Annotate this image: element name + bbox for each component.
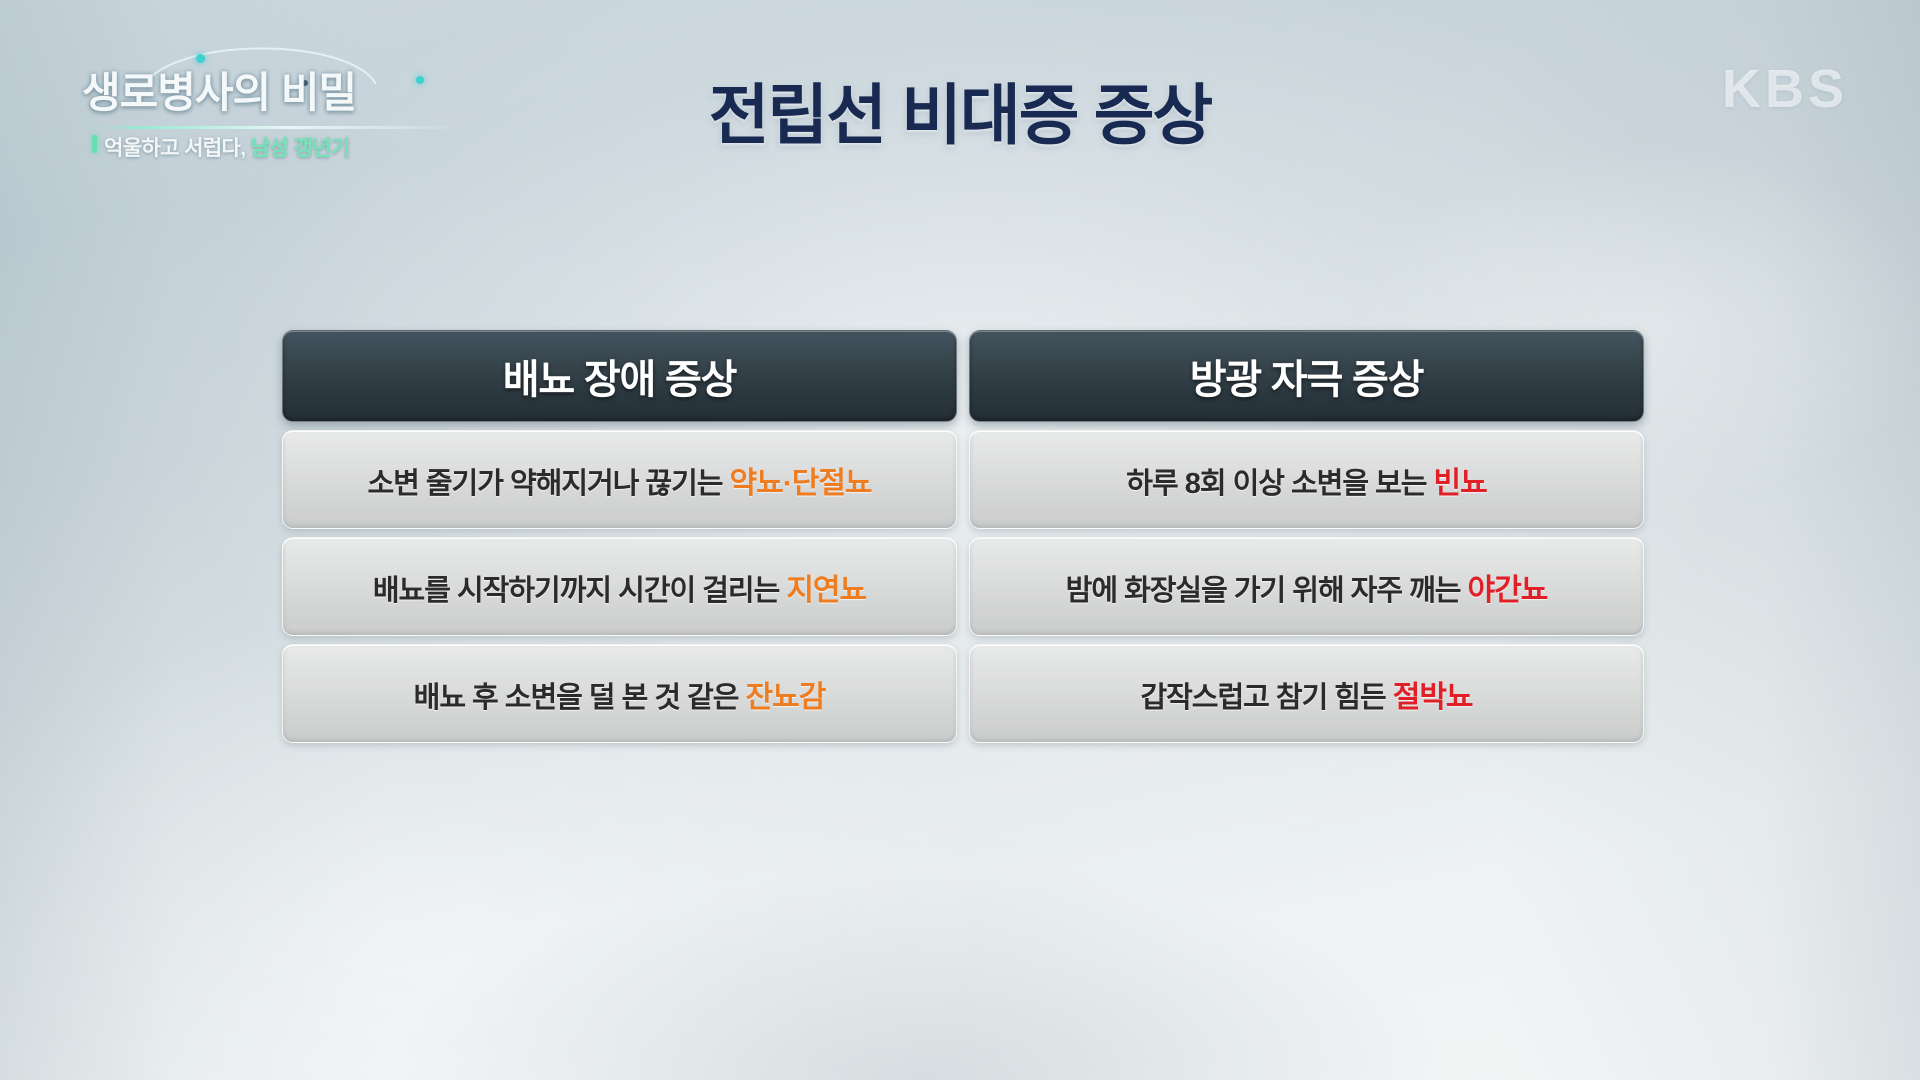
symptom-text: 하루 8회 이상 소변을 보는 빈뇨 — [1126, 458, 1486, 502]
column-header-label: 배뇨 장애 증상 — [503, 347, 736, 405]
symptom-text: 갑작스럽고 참기 힘든 절박뇨 — [1140, 672, 1472, 716]
symptom-keyword: 잔뇨감 — [746, 681, 826, 714]
logo-underline-divider — [98, 126, 448, 129]
symptom-lead: 밤에 화장실을 가기 위해 자주 깨는 — [1066, 575, 1468, 607]
episode-subtitle-accent: 남성 갱년기 — [251, 137, 350, 160]
column-header-voiding: 배뇨 장애 증상 — [282, 330, 957, 422]
table-row: 갑작스럽고 참기 힘든 절박뇨 — [969, 644, 1644, 743]
kbs-network-logo: KBS — [1722, 58, 1848, 120]
symptom-lead: 배뇨 후 소변을 덜 본 것 같은 — [414, 682, 746, 714]
table-row: 소변 줄기가 약해지거나 끊기는 약뇨·단절뇨 — [282, 430, 957, 529]
logo-bullet-icon — [92, 135, 97, 153]
symptom-lead: 갑작스럽고 참기 힘든 — [1140, 682, 1392, 714]
table-row: 배뇨 후 소변을 덜 본 것 같은 잔뇨감 — [282, 644, 957, 743]
program-title: 생로병사의 비밀 — [82, 72, 464, 114]
symptom-text: 배뇨를 시작하기까지 시간이 걸리는 지연뇨 — [373, 565, 866, 609]
symptom-text: 밤에 화장실을 가기 위해 자주 깨는 야간뇨 — [1066, 565, 1548, 609]
symptom-lead: 배뇨를 시작하기까지 시간이 걸리는 — [373, 575, 786, 607]
symptom-keyword: 지연뇨 — [786, 574, 866, 607]
symptom-keyword: 빈뇨 — [1434, 467, 1487, 500]
symptom-text: 소변 줄기가 약해지거나 끊기는 약뇨·단절뇨 — [367, 458, 871, 502]
symptom-keyword: 약뇨·단절뇨 — [730, 467, 872, 500]
column-header-label: 방광 자극 증상 — [1190, 347, 1423, 405]
program-logo: 생로병사의 비밀 억울하고 서럽다, 남성 갱년기 — [78, 34, 468, 152]
broadcast-stage: 생로병사의 비밀 억울하고 서럽다, 남성 갱년기 전립선 비대증 증상 KBS… — [0, 0, 1920, 1080]
symptom-text: 배뇨 후 소변을 덜 본 것 같은 잔뇨감 — [414, 672, 826, 716]
table-row: 밤에 화장실을 가기 위해 자주 깨는 야간뇨 — [969, 537, 1644, 636]
table-row: 배뇨를 시작하기까지 시간이 걸리는 지연뇨 — [282, 537, 957, 636]
symptom-keyword: 야간뇨 — [1468, 574, 1548, 607]
symptom-lead: 하루 8회 이상 소변을 보는 — [1126, 468, 1433, 500]
program-episode-subtitle: 억울하고 서럽다, 남성 갱년기 — [104, 132, 350, 162]
symptom-column-voiding: 배뇨 장애 증상 소변 줄기가 약해지거나 끊기는 약뇨·단절뇨 배뇨를 시작하… — [282, 330, 957, 743]
symptom-lead: 소변 줄기가 약해지거나 끊기는 — [367, 468, 729, 500]
logo-dot-icon — [196, 54, 205, 63]
symptom-table: 배뇨 장애 증상 소변 줄기가 약해지거나 끊기는 약뇨·단절뇨 배뇨를 시작하… — [282, 330, 1644, 743]
episode-subtitle-plain: 억울하고 서럽다, — [104, 137, 246, 160]
symptom-keyword: 절박뇨 — [1393, 681, 1473, 714]
column-header-bladder: 방광 자극 증상 — [969, 330, 1644, 422]
table-row: 하루 8회 이상 소변을 보는 빈뇨 — [969, 430, 1644, 529]
symptom-column-bladder: 방광 자극 증상 하루 8회 이상 소변을 보는 빈뇨 밤에 화장실을 가기 위… — [969, 330, 1644, 743]
